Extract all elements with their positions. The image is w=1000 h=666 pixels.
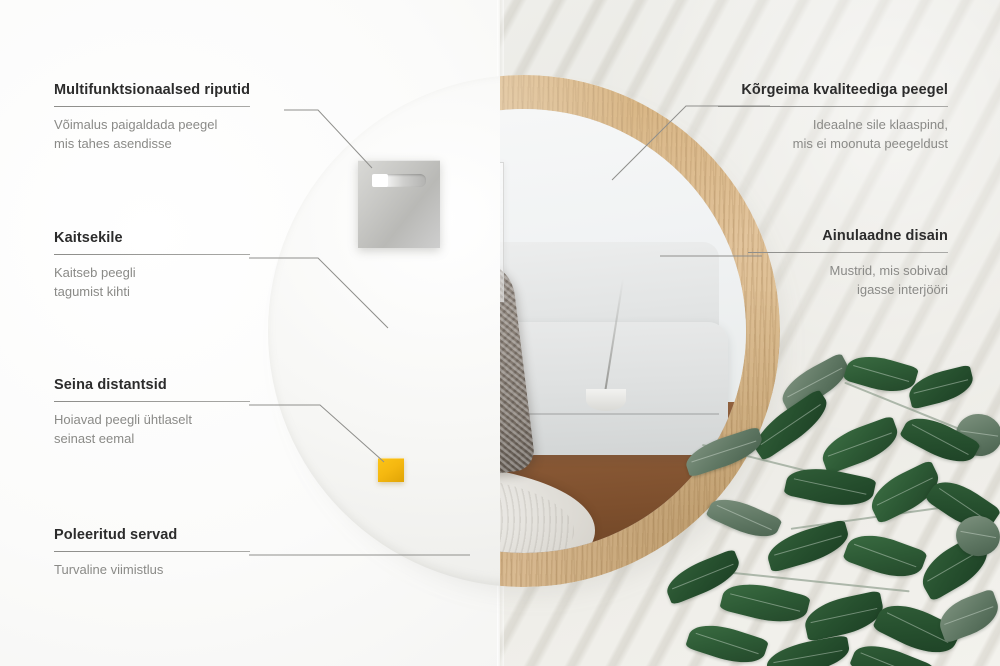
callout-poleeritud-servad: Poleeritud servad Turvaline viimistlus [54,527,250,580]
callout-title: Ainulaadne disain [748,228,948,245]
callout-seina-distantsid: Seina distantsid Hoiavad peegli ühtlasel… [54,377,250,448]
callout-ainulaadne-disain: Ainulaadne disain Mustrid, mis sobivad i… [748,228,948,299]
leaf [685,617,769,666]
callout-title: Multifunktsionaalsed riputid [54,82,250,99]
callout-rule [54,401,250,402]
callout-title: Kõrgeima kvaliteediga peegel [718,82,948,99]
callout-korgeima-kvaliteediga-peegel: Kõrgeima kvaliteediga peegel Ideaalne si… [718,82,948,153]
wall-spacer-block [378,458,404,482]
leaf [682,426,767,477]
callout-title: Seina distantsid [54,377,250,394]
callout-title: Poleeritud servad [54,527,250,544]
leaf [934,588,1000,643]
foliage-decoration [670,366,1000,666]
callout-description: Võimalus paigaldada peegel mis tahes ase… [54,116,250,153]
leaf [817,415,904,474]
callout-rule [54,106,250,107]
leaf [764,635,852,666]
callout-rule [54,551,250,552]
infographic-canvas: Multifunktsionaalsed riputid Võimalus pa… [0,0,1000,666]
callout-kaitsekile: Kaitsekile Kaitseb peegli tagumist kihti [54,230,250,301]
callout-multifunktsionaalsed-riputid: Multifunktsionaalsed riputid Võimalus pa… [54,82,250,153]
callout-description: Turvaline viimistlus [54,561,250,579]
callout-description: Mustrid, mis sobivad igasse interjööri [748,262,948,299]
callout-description: Hoiavad peegli ühtlaselt seinast eemal [54,411,250,448]
leaf [801,590,887,642]
leaf [842,526,928,587]
callout-rule [54,254,250,255]
callout-title: Kaitsekile [54,230,250,247]
callout-description: Ideaalne sile klaaspind, mis ei moonuta … [718,116,948,153]
callout-rule [718,106,948,107]
hanger-plate [358,160,440,248]
reflected-pendant-shade [586,389,626,411]
callout-description: Kaitseb peegli tagumist kihti [54,264,250,301]
hanger-slot [372,174,426,187]
leaf [719,576,811,630]
callout-rule [748,252,948,253]
leaf [705,491,782,546]
